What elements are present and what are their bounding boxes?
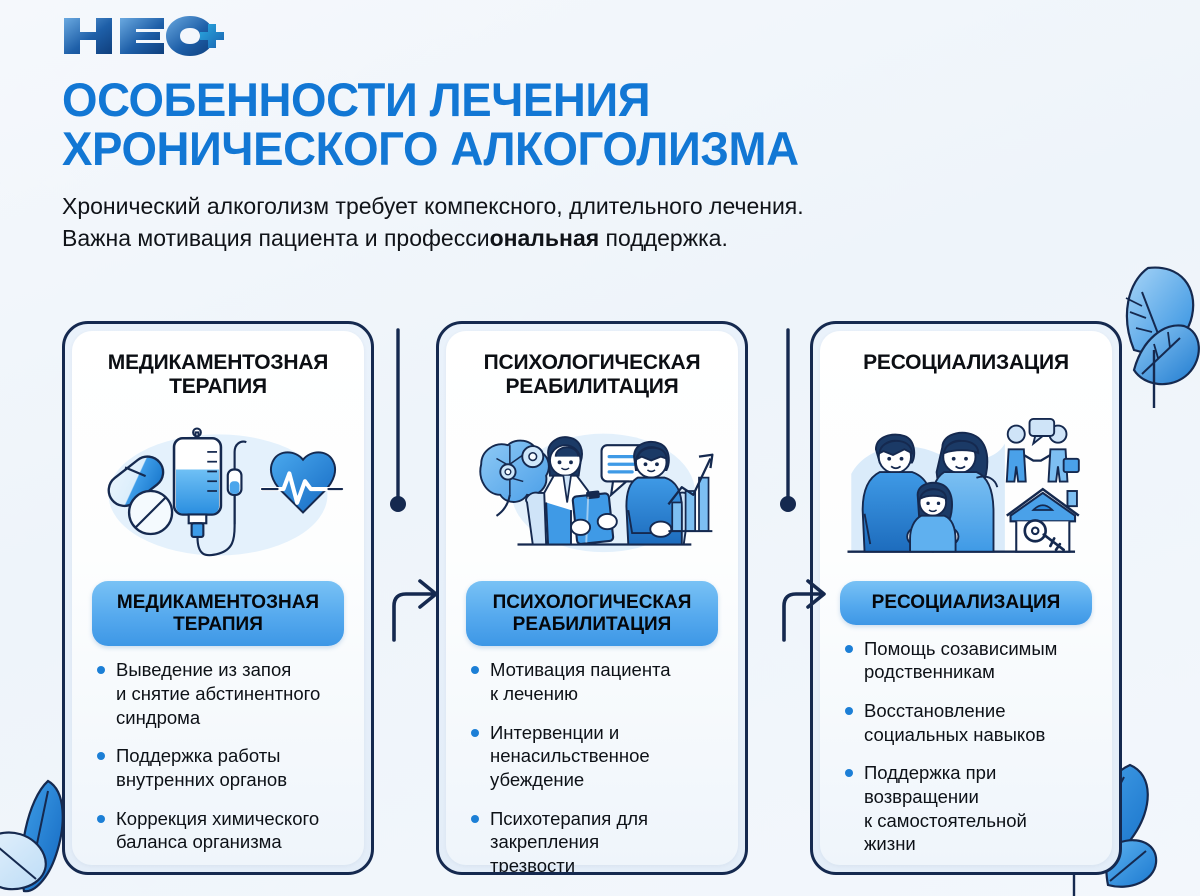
- list-item: Интервенции и ненасильственное убеждение: [470, 721, 718, 792]
- card-2-heading: ПСИХОЛОГИЧЕСКАЯ РЕАБИЛИТАЦИЯ: [464, 351, 720, 401]
- page-title: ОСОБЕННОСТИ ЛЕЧЕНИЯ ХРОНИЧЕСКОГО АЛКОГОЛ…: [62, 76, 1166, 174]
- list-item: Коррекция химического баланса организма: [96, 807, 344, 854]
- treatment-stage-cards: МЕДИКАМЕНТОЗНАЯ ТЕРАПИЯ: [62, 321, 1142, 875]
- gap-2: [748, 321, 810, 875]
- card-2-pill-label[interactable]: ПСИХОЛОГИЧЕСКАЯ РЕАБИЛИТАЦИЯ: [466, 581, 718, 646]
- resocialization-illustration: [838, 407, 1094, 575]
- list-item: Мотивация пациента к лечению: [470, 658, 718, 705]
- subtitle-line-2-bold: ональная: [490, 225, 600, 251]
- subtitle-line-2-post: поддержка.: [599, 225, 728, 251]
- card-slot-2: ПСИХОЛОГИЧЕСКАЯ РЕАБИЛИТАЦИЯ: [436, 321, 748, 875]
- page-subtitle: Хронический алкоголизм требует компексно…: [62, 190, 1072, 255]
- psychological-rehab-illustration: [464, 407, 720, 575]
- card-resocialization[interactable]: РЕСОЦИАЛИЗАЦИЯ: [810, 321, 1122, 875]
- handshake-icon: [1007, 419, 1079, 482]
- list-item: Выведение из запоя и снятие абстинентног…: [96, 658, 344, 729]
- list-item: Восстановление социальных навыков: [844, 699, 1092, 746]
- medication-therapy-illustration: [90, 407, 346, 575]
- house-key-icon: [1007, 489, 1079, 552]
- list-item: Помощь созависимым родственникам: [844, 637, 1092, 684]
- card-3-heading: РЕСОЦИАЛИЗАЦИЯ: [838, 351, 1094, 401]
- card-slot-1: МЕДИКАМЕНТОЗНАЯ ТЕРАПИЯ: [62, 321, 374, 875]
- gap-1: [374, 321, 436, 875]
- card-psychological-rehabilitation[interactable]: ПСИХОЛОГИЧЕСКАЯ РЕАБИЛИТАЦИЯ: [436, 321, 748, 875]
- brand-logo[interactable]: [62, 14, 1200, 58]
- card-slot-3: РЕСОЦИАЛИЗАЦИЯ: [810, 321, 1122, 875]
- list-item: Поддержка при возвращении к самостоятель…: [844, 761, 1092, 856]
- card-3-bullet-list: Помощь созависимым родственникам Восстан…: [838, 637, 1094, 871]
- card-1-bullet-list: Выведение из запоя и снятие абстинентног…: [90, 658, 346, 869]
- round-tablet: [129, 491, 172, 534]
- list-item: Психотерапия для закрепления трезвости: [470, 807, 718, 875]
- subtitle-line-2-pre: Важна мотивация пациента и професси: [62, 225, 490, 251]
- card-1-pill-label[interactable]: МЕДИКАМЕНТОЗНАЯ ТЕРАПИЯ: [92, 581, 344, 646]
- list-item: Поддержка работы внутренних органов: [96, 744, 344, 791]
- card-medication-therapy[interactable]: МЕДИКАМЕНТОЗНАЯ ТЕРАПИЯ: [62, 321, 374, 875]
- card-2-bullet-list: Мотивация пациента к лечению Интервенции…: [464, 658, 720, 875]
- page-header: ОСОБЕННОСТИ ЛЕЧЕНИЯ ХРОНИЧЕСКОГО АЛКОГОЛ…: [0, 0, 1200, 255]
- card-1-heading: МЕДИКАМЕНТОЗНАЯ ТЕРАПИЯ: [90, 351, 346, 401]
- subtitle-line-1: Хронический алкоголизм требует компексно…: [62, 193, 804, 219]
- card-3-pill-label[interactable]: РЕСОЦИАЛИЗАЦИЯ: [840, 581, 1092, 625]
